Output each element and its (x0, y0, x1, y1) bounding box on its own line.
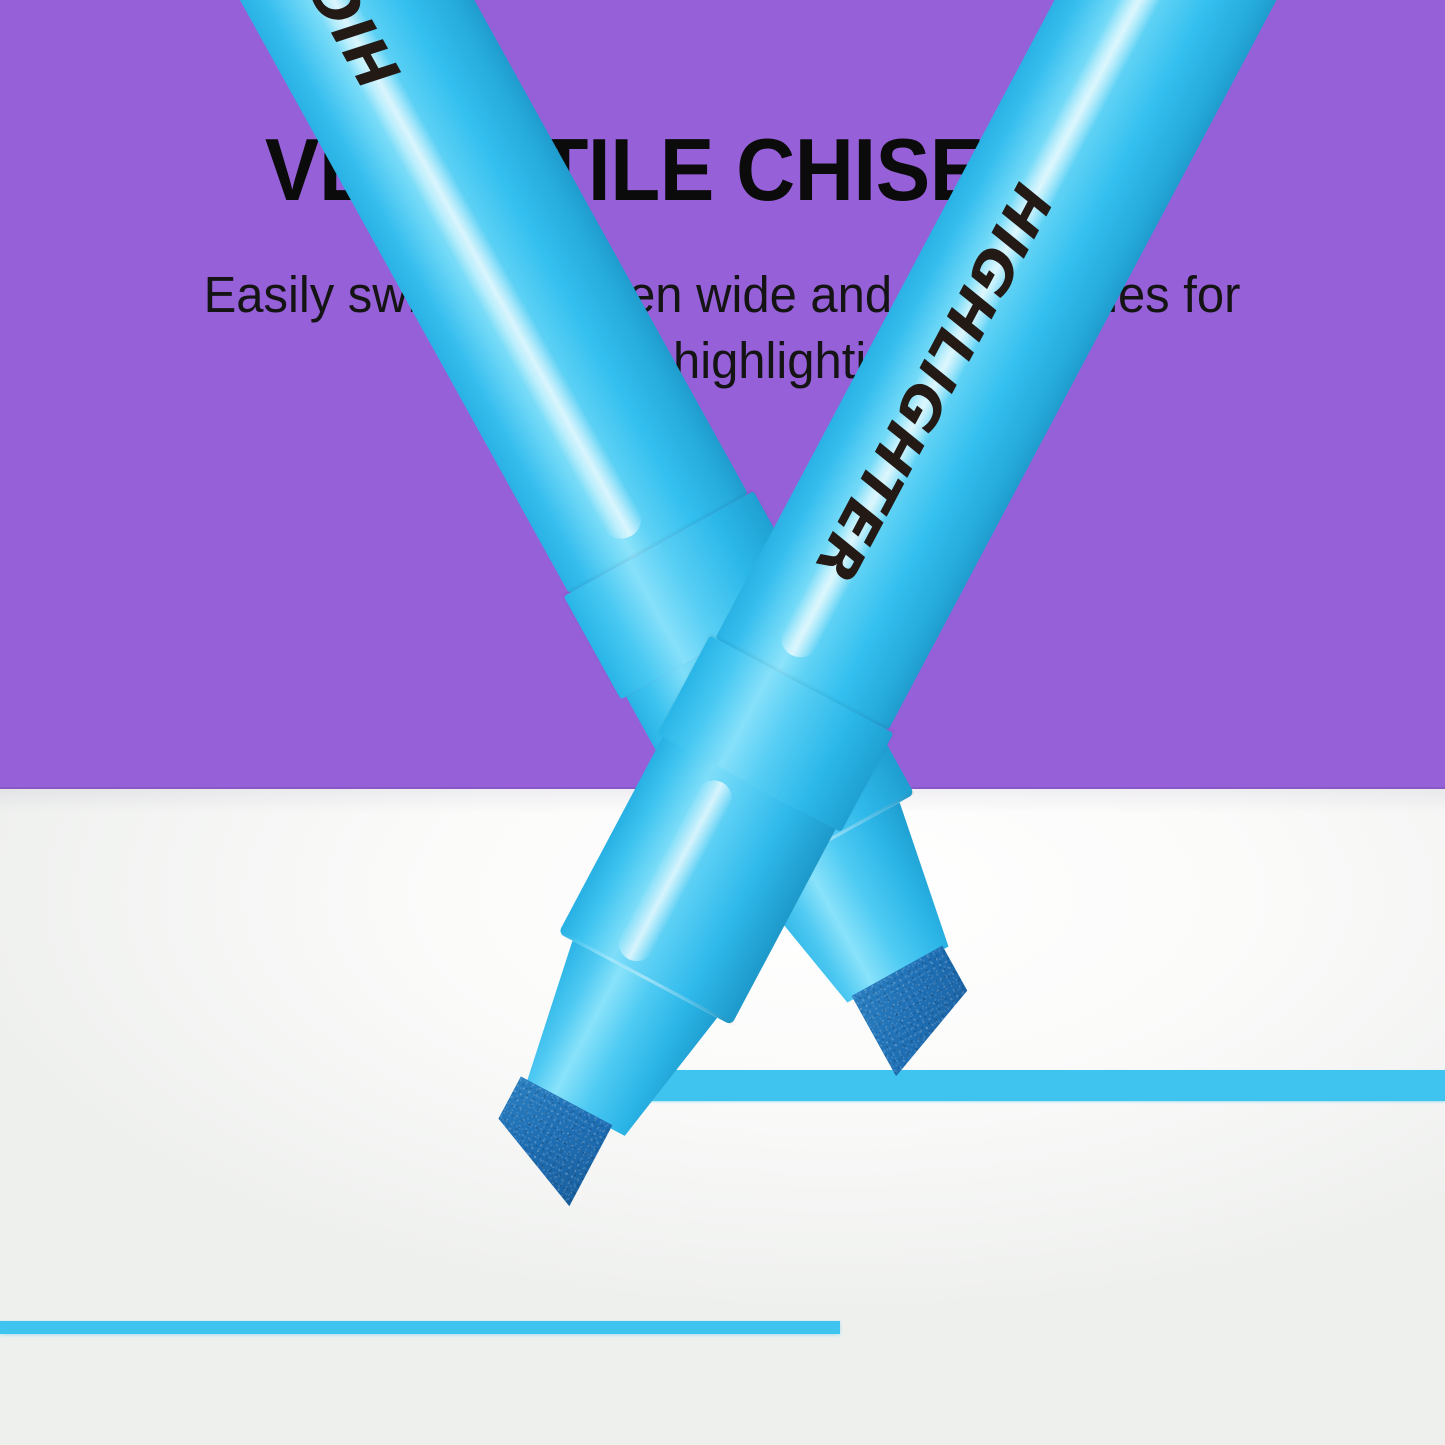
narrow-ink-stroke (0, 1321, 840, 1334)
product-feature-image: VERSATILE CHISEL TIP Easily switch betwe… (0, 0, 1445, 1445)
